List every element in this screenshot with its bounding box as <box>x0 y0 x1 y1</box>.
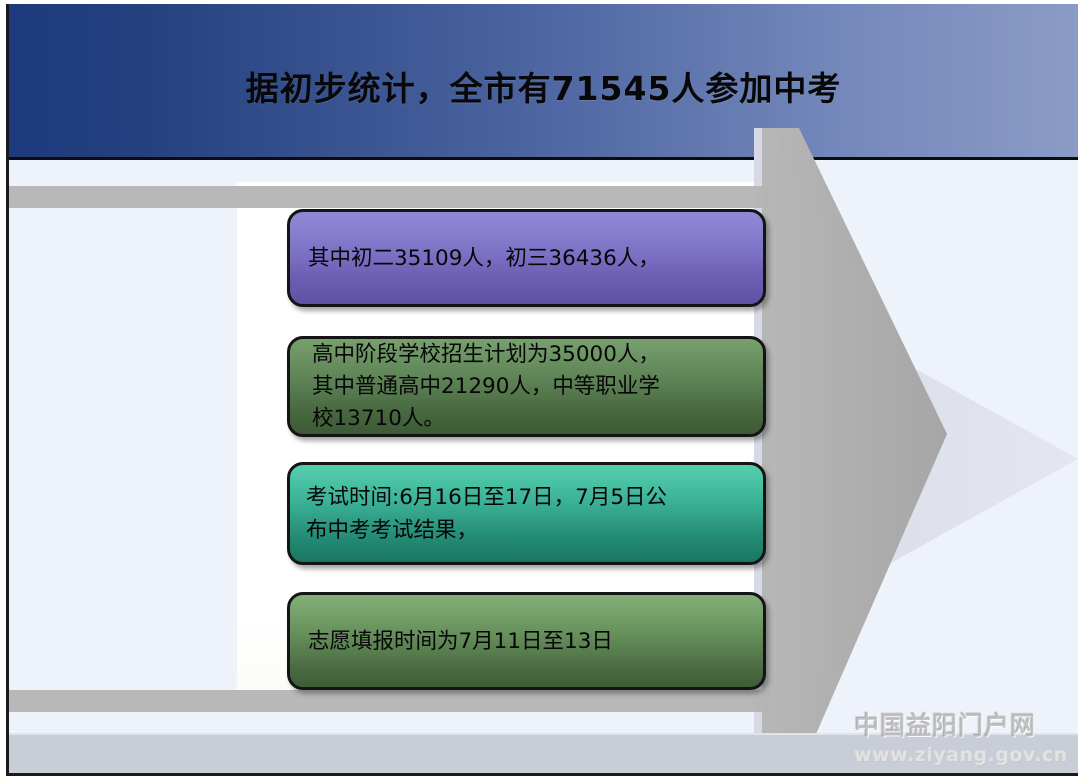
title-banner: 据初步统计，全市有71545人参加中考 <box>9 4 1078 160</box>
page-title: 据初步统计，全市有71545人参加中考 <box>9 62 1078 110</box>
footer-strip <box>9 733 1078 775</box>
slide-frame: 据初步统计，全市有71545人参加中考 <box>6 4 1078 776</box>
content-box-3[interactable]: 考试时间:6月16日至17日，7月5日公 布中考考试结果， <box>287 462 766 565</box>
content-box-1-text: 其中初二35109人，初三36436人， <box>290 241 763 276</box>
content-box-4[interactable]: 志愿填报时间为7月11日至13日 <box>287 592 766 690</box>
slide-canvas: 据初步统计，全市有71545人参加中考 <box>0 0 1084 783</box>
content-box-1[interactable]: 其中初二35109人，初三36436人， <box>287 209 766 307</box>
content-box-4-text: 志愿填报时间为7月11日至13日 <box>290 624 763 659</box>
process-arrow-head <box>771 128 947 773</box>
content-box-2[interactable]: 高中阶段学校招生计划为35000人， 其中普通高中21290人，中等职业学 校1… <box>287 336 766 437</box>
process-arrow-echo <box>754 128 1078 773</box>
content-box-3-text: 考试时间:6月16日至17日，7月5日公 布中考考试结果， <box>290 481 763 547</box>
content-box-2-text: 高中阶段学校招生计划为35000人， 其中普通高中21290人，中等职业学 校1… <box>290 339 763 435</box>
